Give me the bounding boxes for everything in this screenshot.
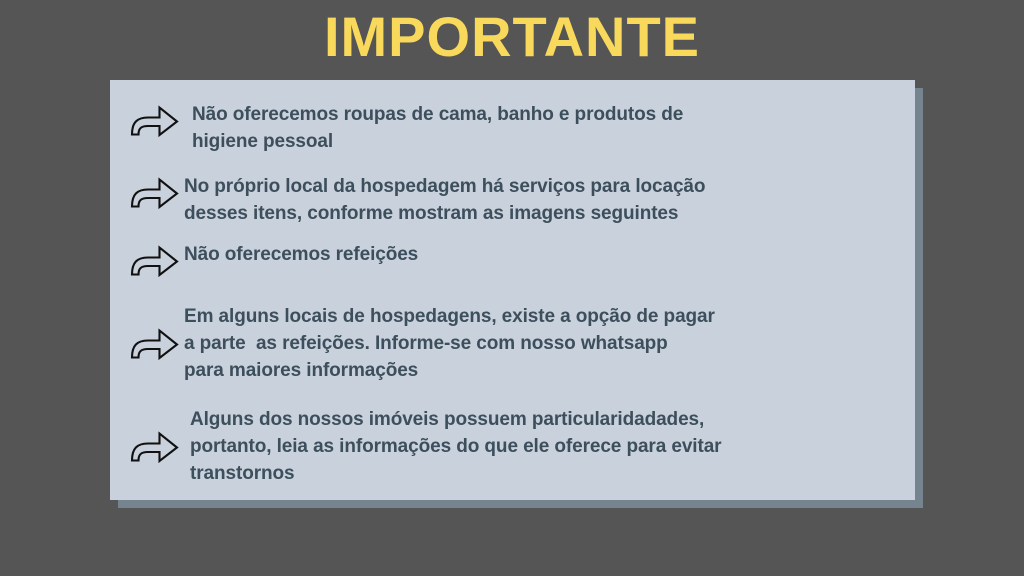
curved-right-arrow-icon xyxy=(128,176,180,210)
list-item: No próprio local da hospedagem há serviç… xyxy=(128,174,901,228)
list-item-label: Em alguns locais de hospedagens, existe … xyxy=(184,304,901,385)
list-item-label: No próprio local da hospedagem há serviç… xyxy=(184,174,901,228)
list-item-label: Alguns dos nossos imóveis possuem partic… xyxy=(184,407,901,488)
list-item: Em alguns locais de hospedagens, existe … xyxy=(128,304,901,385)
curved-right-arrow-icon xyxy=(128,104,180,138)
bullet-list: Não oferecemos roupas de cama, banho e p… xyxy=(110,80,915,500)
curved-right-arrow-icon xyxy=(128,327,180,361)
list-item: Alguns dos nossos imóveis possuem partic… xyxy=(128,407,901,488)
curved-right-arrow-icon xyxy=(128,430,180,464)
list-item: Não oferecemos roupas de cama, banho e p… xyxy=(128,102,901,156)
list-item: Não oferecemos refeições xyxy=(128,242,901,278)
page-title: IMPORTANTE xyxy=(0,8,1024,67)
list-item-label: Não oferecemos roupas de cama, banho e p… xyxy=(184,102,901,156)
slide-canvas: IMPORTANTE Não oferecemos roupas de cama… xyxy=(0,0,1024,576)
list-item-label: Não oferecemos refeições xyxy=(184,242,901,269)
content-panel: Não oferecemos roupas de cama, banho e p… xyxy=(110,80,915,500)
curved-right-arrow-icon xyxy=(128,244,180,278)
